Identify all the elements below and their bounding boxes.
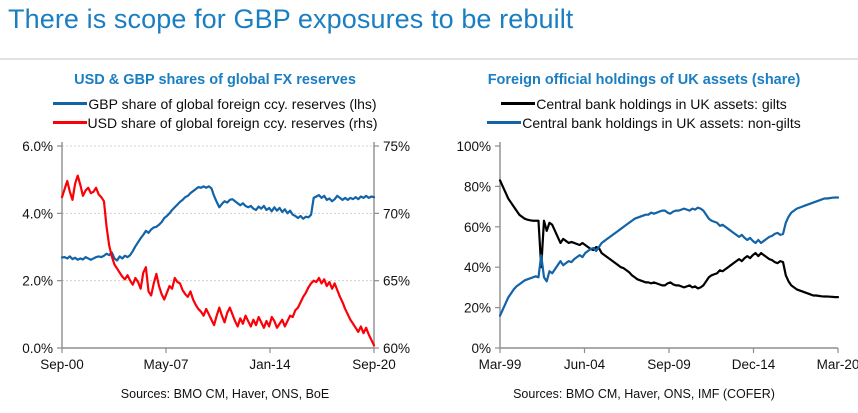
y-axis-label-left: 2.0% bbox=[22, 274, 53, 289]
left-chart-source: Sources: BMO CM, Haver, ONS, BoE bbox=[0, 387, 440, 401]
series-line bbox=[62, 186, 374, 260]
left-chart-plot: 0.0%2.0%4.0%6.0%60%65%70%75%Sep-00May-07… bbox=[0, 134, 430, 384]
page-title: There is scope for GBP exposures to be r… bbox=[8, 4, 573, 35]
y-axis-label: 40% bbox=[464, 260, 491, 275]
y-axis-label-right: 75% bbox=[383, 139, 410, 154]
right-chart-source: Sources: BMO CM, Haver, ONS, IMF (COFER) bbox=[430, 387, 858, 401]
series-line bbox=[500, 198, 838, 316]
y-axis-label: 0% bbox=[471, 341, 491, 356]
series-line bbox=[62, 176, 374, 346]
y-axis-label: 100% bbox=[456, 139, 491, 154]
right-chart-plot: 0%20%40%60%80%100%Mar-99Jun-04Sep-09Dec-… bbox=[430, 134, 858, 384]
left-chart-legend: GBP share of global foreign ccy. reserve… bbox=[0, 94, 430, 132]
legend-label-gilts: Central bank holdings in UK assets: gilt… bbox=[536, 97, 787, 111]
header-divider bbox=[0, 58, 858, 60]
y-axis-label-right: 70% bbox=[383, 206, 410, 221]
x-axis-label: Sep-00 bbox=[40, 357, 84, 372]
left-chart-title: USD & GBP shares of global FX reserves bbox=[0, 72, 430, 88]
x-axis-label: Sep-09 bbox=[647, 357, 691, 372]
legend-swatch-usd bbox=[53, 121, 87, 124]
x-axis-label: Jan-14 bbox=[249, 357, 291, 372]
x-axis-label: May-07 bbox=[143, 357, 188, 372]
x-axis-label: Sep-20 bbox=[352, 357, 396, 372]
chart-panel-fx-reserves: USD & GBP shares of global FX reserves G… bbox=[0, 62, 430, 413]
legend-item: Central bank holdings in UK assets: non-… bbox=[430, 113, 858, 132]
series-line bbox=[500, 180, 838, 297]
y-axis-label: 60% bbox=[464, 220, 491, 235]
y-axis-label-left: 0.0% bbox=[22, 341, 53, 356]
legend-swatch-nongilts bbox=[487, 121, 521, 124]
x-axis-label: Mar-20 bbox=[817, 357, 858, 372]
x-axis-label: Dec-14 bbox=[732, 357, 776, 372]
y-axis-label-right: 65% bbox=[383, 274, 410, 289]
chart-panel-uk-assets: Foreign official holdings of UK assets (… bbox=[430, 62, 858, 413]
y-axis-label-left: 6.0% bbox=[22, 139, 53, 154]
right-chart-title: Foreign official holdings of UK assets (… bbox=[430, 72, 858, 88]
y-axis-label: 20% bbox=[464, 301, 491, 316]
slide-root: There is scope for GBP exposures to be r… bbox=[0, 0, 858, 413]
right-chart-legend: Central bank holdings in UK assets: gilt… bbox=[430, 94, 858, 132]
x-axis-label: Jun-04 bbox=[564, 357, 606, 372]
legend-item: GBP share of global foreign ccy. reserve… bbox=[0, 94, 430, 113]
y-axis-label: 80% bbox=[464, 179, 491, 194]
y-axis-label-right: 60% bbox=[383, 341, 410, 356]
x-axis-label: Mar-99 bbox=[479, 357, 522, 372]
legend-label-usd: USD share of global foreign ccy. reserve… bbox=[88, 116, 378, 130]
legend-swatch-gbp bbox=[53, 102, 87, 105]
y-axis-label-left: 4.0% bbox=[22, 206, 53, 221]
legend-swatch-gilts bbox=[501, 102, 535, 105]
legend-item: USD share of global foreign ccy. reserve… bbox=[0, 113, 430, 132]
legend-label-gbp: GBP share of global foreign ccy. reserve… bbox=[88, 97, 376, 111]
legend-label-nongilts: Central bank holdings in UK assets: non-… bbox=[522, 116, 801, 130]
legend-item: Central bank holdings in UK assets: gilt… bbox=[430, 94, 858, 113]
